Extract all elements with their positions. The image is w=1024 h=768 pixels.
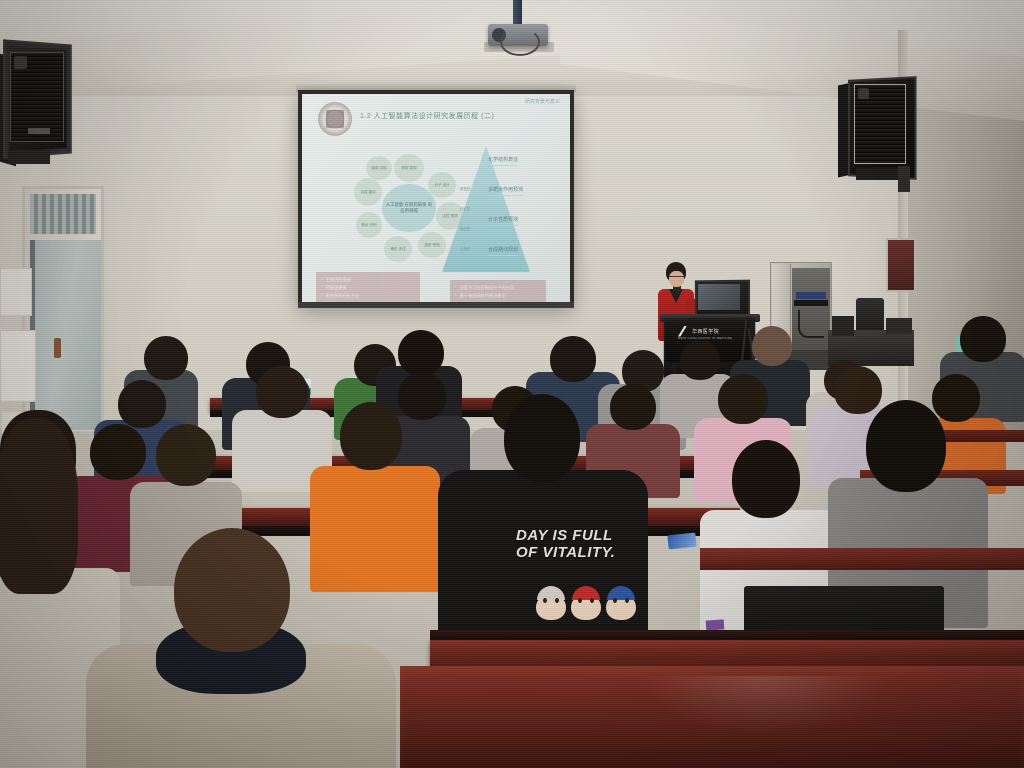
pyramid-label-3: 分子性质预测: [488, 216, 518, 226]
podium-logo-subtitle: WEST CHINA SCHOOL OF MEDICINE: [678, 337, 732, 340]
podium-logo-text: 华西医学院: [692, 328, 719, 335]
projector-cable: [500, 28, 540, 56]
projector-mount-pole: [513, 0, 522, 26]
door-transom-louvers: [30, 194, 96, 234]
flower-petal-2: 分子 设计: [428, 172, 456, 198]
hoodie-character-2: [569, 586, 603, 620]
slide-box-right: 深度学习在药物设计中的应用 基于神经网络的预测模型: [450, 280, 546, 302]
wall-plaque: [886, 238, 916, 292]
hoodie-character-1-eye-right: [555, 598, 559, 603]
flower-petal-4: 晶型 预测: [418, 232, 446, 258]
slide-box-left-bullet-1: 生物活性筛选: [321, 276, 415, 284]
speaker-right-tweeter-icon: [858, 88, 869, 99]
pyramid-tick-2: 特征层: [460, 206, 470, 211]
podium-logo-mark-icon: [678, 326, 690, 337]
pyramid-tick-3: 模型层: [460, 226, 470, 231]
pyramid-label-2: 多靶点作用预测: [488, 186, 523, 196]
podium-logo: 华西医学院: [678, 324, 738, 338]
classroom-door[interactable]: [30, 240, 101, 430]
presenter-glasses-icon: [669, 276, 684, 280]
hoodie-cartoon-graphic: [534, 582, 646, 620]
cabinet-cables: [798, 310, 824, 338]
projection-screen-frame: 研究背景与意义 1.2 人工智能算法设计研究发展历程 (二) 药物 发现 分子 …: [298, 90, 574, 306]
pyramid-label-1: 化学结构表征: [488, 156, 518, 166]
flower-center-label: 人工智能 在新药研发 的应用领域: [382, 184, 436, 232]
hoodie-character-2-eye-left: [578, 598, 582, 603]
hoodie-print-text: DAY IS FULL OF VITALITY.: [516, 528, 656, 568]
wall-notice-middle: [0, 330, 36, 402]
desk-right-lower: [700, 548, 1024, 570]
speaker-left-badge: [28, 128, 50, 134]
hoodie-line-1: DAY IS FULL: [516, 528, 656, 545]
flower-petal-8: 临床 试验: [366, 156, 392, 180]
door-handle[interactable]: [54, 338, 61, 358]
flower-petal-7: 合成 路径: [354, 178, 382, 206]
lecture-hall-photo: 研究背景与意义 1.2 人工智能算法设计研究发展历程 (二) 药物 发现 分子 …: [0, 0, 1024, 768]
slide-corner-tag: 研究背景与意义: [525, 98, 560, 105]
hoodie-character-2-eye-right: [590, 598, 594, 603]
hoodie-character-3: [604, 586, 638, 620]
av-device-2: [886, 318, 912, 334]
pyramid-tick-1: 数据层: [460, 186, 470, 191]
hoodie-character-3-eye-left: [613, 598, 617, 603]
flower-petal-1: 药物 发现: [394, 154, 424, 182]
hoodie-character-1-hat: [537, 586, 565, 600]
flower-petal-6: 靶点 识别: [356, 212, 382, 238]
speaker-left-mount: [8, 150, 50, 164]
slide-box-right-bullet-1: 深度学习在药物设计中的应用: [455, 284, 541, 292]
projected-slide: 研究背景与意义 1.2 人工智能算法设计研究发展历程 (二) 药物 发现 分子 …: [302, 94, 570, 302]
slide-box-right-bullet-2: 基于神经网络的预测模型: [455, 292, 541, 300]
hoodie-line-2: OF VITALITY.: [516, 545, 656, 562]
desk-gloss-highlight: [640, 676, 890, 736]
slide-box-left: 生物活性筛选 药效团建模 构效关系分析方法: [316, 272, 420, 302]
flower-petal-5: 毒性 评估: [384, 236, 412, 262]
hoodie-character-3-eye-right: [625, 598, 629, 603]
blue-card-on-desk[interactable]: [667, 533, 696, 550]
hoodie-character-3-hat: [607, 586, 635, 600]
slide-flower-diagram: 药物 发现 分子 设计 活性 预测 晶型 预测 毒性 评估 靶点 识别 合成 路…: [354, 154, 466, 262]
pyramid-tick-4: 应用层: [460, 246, 470, 251]
purple-card-on-desk[interactable]: [706, 619, 725, 630]
slide-box-left-bullet-2: 药效团建模: [321, 284, 415, 292]
cabinet-tray: [794, 300, 828, 306]
pyramid-label-4: 合成路线规划: [488, 246, 518, 256]
projection-screen-weight-bar: [298, 302, 574, 308]
university-logo-mark: [326, 110, 344, 128]
speaker-right-bracket: [898, 166, 910, 192]
hoodie-character-1-eye-left: [543, 598, 547, 603]
cabinet-blue-device: [796, 292, 826, 299]
av-device-1: [832, 316, 854, 336]
speaker-right-mount: [856, 168, 904, 180]
wall-notice-top: [0, 268, 32, 316]
speaker-left-tweeter-icon: [14, 56, 27, 69]
hoodie-character-1: [534, 586, 568, 620]
slide-title: 1.2 人工智能算法设计研究发展历程 (二): [360, 111, 494, 121]
laptop-display: [698, 284, 740, 310]
slide-box-left-bullet-3: 构效关系分析方法: [321, 292, 415, 300]
hoodie-character-2-hat: [572, 586, 600, 600]
